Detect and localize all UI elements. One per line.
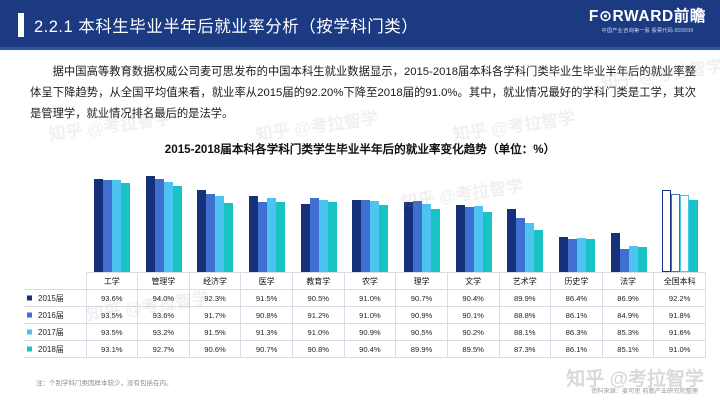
table-cell: 91.5%	[241, 290, 293, 307]
bar	[112, 180, 121, 272]
bar	[164, 182, 173, 272]
table-cell: 93.2%	[138, 324, 190, 341]
bar	[507, 209, 516, 272]
legend-swatch-icon	[27, 330, 32, 335]
bar-group	[603, 168, 655, 272]
legend-item-2016届: 2016届	[24, 307, 86, 324]
bar	[474, 206, 483, 272]
bar	[465, 207, 474, 272]
legend-swatch-icon	[27, 347, 32, 352]
header-accent-bar	[18, 13, 24, 37]
table-cell: 89.9%	[396, 341, 448, 358]
bar	[197, 190, 206, 272]
table-cell: 86.1%	[551, 341, 603, 358]
table-cell: 90.4%	[344, 341, 396, 358]
table-cell: 91.0%	[344, 290, 396, 307]
bar-group	[138, 168, 190, 272]
legend-label: 2018届	[38, 345, 64, 354]
bar	[379, 205, 388, 272]
brand-logo-tagline: 中国产业咨询第一股 股票代码:839599	[589, 29, 706, 34]
bar	[620, 249, 629, 272]
table-column-header: 历史学	[551, 273, 603, 290]
data-table-wrapper: 工学管理学经济学医学教育学农学理学文学艺术学历史学法学全国本科 2015届93.…	[24, 272, 706, 358]
brand-logo-name: F⊙RWARD前瞻	[589, 9, 706, 25]
bar	[456, 205, 465, 272]
legend-item-2017届: 2017届	[24, 324, 86, 341]
legend-swatch-icon	[27, 313, 32, 318]
table-cell: 94.0%	[138, 290, 190, 307]
bar	[215, 196, 224, 272]
table-cell: 90.8%	[293, 341, 345, 358]
legend-label: 2017届	[38, 328, 64, 337]
table-cell: 92.3%	[189, 290, 241, 307]
table-cell: 88.8%	[499, 307, 551, 324]
bar-group	[654, 168, 706, 272]
chart-title: 2015-2018届本科各学科门类学生毕业半年后的就业率变化趋势（单位：%）	[0, 141, 720, 157]
table-corner-cell	[24, 273, 86, 290]
legend-item-2018届: 2018届	[24, 341, 86, 358]
bar	[611, 233, 620, 272]
slide-canvas: 2.2.1 本科生毕业半年后就业率分析（按学科门类） F⊙RWARD前瞻 中国产…	[0, 0, 720, 405]
table-cell: 90.5%	[293, 290, 345, 307]
bar	[121, 183, 130, 272]
table-row: 2017届93.5%93.2%91.5%91.3%91.0%90.9%90.5%…	[24, 324, 706, 341]
slide-header: 2.2.1 本科生毕业半年后就业率分析（按学科门类） F⊙RWARD前瞻 中国产…	[0, 0, 720, 50]
bar	[431, 209, 440, 272]
bar	[577, 238, 586, 272]
table-cell: 86.9%	[602, 290, 654, 307]
bar	[103, 180, 112, 272]
table-cell: 93.5%	[86, 307, 138, 324]
bar	[258, 202, 267, 272]
bar	[680, 195, 689, 272]
bar	[404, 202, 413, 272]
table-cell: 93.5%	[86, 324, 138, 341]
bar	[301, 204, 310, 272]
bar-group	[499, 168, 551, 272]
bar-group	[293, 168, 345, 272]
bar	[525, 223, 534, 272]
table-cell: 91.0%	[293, 324, 345, 341]
bar-group	[86, 168, 138, 272]
bar	[662, 190, 671, 272]
table-cell: 91.3%	[241, 324, 293, 341]
table-row: 2016届93.5%93.6%91.7%90.8%91.2%91.0%90.9%…	[24, 307, 706, 324]
bar-chart	[86, 168, 706, 272]
table-cell: 86.1%	[551, 307, 603, 324]
bar	[422, 204, 431, 272]
table-body: 2015届93.6%94.0%92.3%91.5%90.5%91.0%90.7%…	[24, 290, 706, 358]
bar	[671, 194, 680, 272]
bar	[249, 196, 258, 272]
bar	[629, 246, 638, 272]
table-column-header: 艺术学	[499, 273, 551, 290]
bar	[328, 202, 337, 272]
footnote: 注：个别学科门类因样本较少，没有包括在内。	[36, 377, 173, 387]
table-cell: 90.7%	[241, 341, 293, 358]
bar-group	[396, 168, 448, 272]
bar	[516, 218, 525, 272]
table-cell: 92.7%	[138, 341, 190, 358]
bar-group	[551, 168, 603, 272]
table-cell: 93.6%	[138, 307, 190, 324]
page-title: 2.2.1 本科生毕业半年后就业率分析（按学科门类）	[34, 13, 418, 37]
bar	[534, 230, 543, 272]
bar	[638, 247, 647, 272]
table-column-header: 教育学	[293, 273, 345, 290]
bar	[361, 200, 370, 272]
bar-group	[241, 168, 293, 272]
bar	[146, 176, 155, 272]
table-row: 2015届93.6%94.0%92.3%91.5%90.5%91.0%90.7%…	[24, 290, 706, 307]
source-note: 资料来源：麦可思 前瞻产业研究院整理	[591, 386, 698, 395]
table-column-header: 文学	[447, 273, 499, 290]
bar	[586, 239, 595, 272]
table-cell: 91.8%	[654, 307, 706, 324]
table-column-header: 医学	[241, 273, 293, 290]
bar	[568, 239, 577, 272]
table-cell: 90.4%	[447, 290, 499, 307]
data-table: 工学管理学经济学医学教育学农学理学文学艺术学历史学法学全国本科 2015届93.…	[24, 272, 706, 358]
table-cell: 91.5%	[189, 324, 241, 341]
bar-group	[344, 168, 396, 272]
bar-group	[448, 168, 500, 272]
table-cell: 90.7%	[396, 290, 448, 307]
table-cell: 86.3%	[551, 324, 603, 341]
table-cell: 89.9%	[499, 290, 551, 307]
table-column-header: 法学	[602, 273, 654, 290]
table-cell: 90.1%	[447, 307, 499, 324]
bar	[413, 201, 422, 272]
table-cell: 91.6%	[654, 324, 706, 341]
bar	[155, 179, 164, 272]
table-cell: 93.1%	[86, 341, 138, 358]
body-paragraph-block: 据中国高等教育数据权威公司麦可思发布的中国本科生就业数据显示，2015-2018…	[30, 62, 696, 125]
table-column-header: 理学	[396, 273, 448, 290]
legend-label: 2016届	[38, 311, 64, 320]
table-column-header: 经济学	[189, 273, 241, 290]
brand-logo: F⊙RWARD前瞻 中国产业咨询第一股 股票代码:839599	[589, 9, 706, 34]
header-bottom-stripe	[0, 47, 720, 50]
table-cell: 90.8%	[241, 307, 293, 324]
table-column-header: 全国本科	[654, 273, 706, 290]
bar	[370, 201, 379, 272]
table-cell: 87.3%	[499, 341, 551, 358]
table-cell: 91.0%	[344, 307, 396, 324]
table-cell: 91.0%	[654, 341, 706, 358]
table-cell: 89.5%	[447, 341, 499, 358]
table-cell: 92.2%	[654, 290, 706, 307]
table-cell: 91.7%	[189, 307, 241, 324]
bar	[206, 194, 215, 272]
bar	[310, 198, 319, 272]
bar	[352, 200, 361, 272]
bar	[483, 212, 492, 272]
table-cell: 90.5%	[396, 324, 448, 341]
table-cell: 91.2%	[293, 307, 345, 324]
table-row: 2018届93.1%92.7%90.6%90.7%90.8%90.4%89.9%…	[24, 341, 706, 358]
table-cell: 85.3%	[602, 324, 654, 341]
bar	[224, 203, 233, 272]
table-header-row: 工学管理学经济学医学教育学农学理学文学艺术学历史学法学全国本科	[24, 273, 706, 290]
table-cell: 84.9%	[602, 307, 654, 324]
bar	[276, 202, 285, 272]
table-cell: 88.1%	[499, 324, 551, 341]
table-cell: 90.2%	[447, 324, 499, 341]
table-cell: 90.9%	[396, 307, 448, 324]
bar	[559, 237, 568, 272]
bar	[94, 179, 103, 272]
table-column-header: 工学	[86, 273, 138, 290]
legend-item-2015届: 2015届	[24, 290, 86, 307]
table-cell: 86.4%	[551, 290, 603, 307]
table-column-header: 农学	[344, 273, 396, 290]
legend-swatch-icon	[27, 296, 32, 301]
body-paragraph: 据中国高等教育数据权威公司麦可思发布的中国本科生就业数据显示，2015-2018…	[30, 62, 696, 125]
table-cell: 93.6%	[86, 290, 138, 307]
table-column-header: 管理学	[138, 273, 190, 290]
bar	[319, 200, 328, 272]
bar	[689, 200, 698, 272]
table-cell: 90.6%	[189, 341, 241, 358]
legend-label: 2015届	[38, 294, 64, 303]
bar	[173, 186, 182, 272]
table-cell: 90.9%	[344, 324, 396, 341]
bar	[267, 198, 276, 272]
bar-group	[189, 168, 241, 272]
table-cell: 85.1%	[602, 341, 654, 358]
